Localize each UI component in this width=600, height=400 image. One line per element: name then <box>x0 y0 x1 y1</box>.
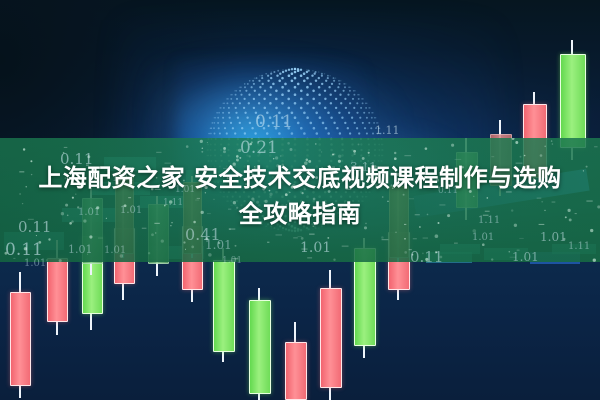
floating-number: 0.21 <box>240 138 278 158</box>
candle-body <box>47 258 68 322</box>
candle-body <box>10 292 31 386</box>
floating-number: 1.01 <box>512 250 539 264</box>
candle-body <box>354 248 376 346</box>
candle-body <box>560 54 586 148</box>
candle-body <box>285 342 307 400</box>
candle-body <box>320 288 342 388</box>
floating-number: 1.01 <box>24 258 46 269</box>
floating-number: 1.01 <box>222 256 242 266</box>
candle-body <box>213 260 235 352</box>
candlestick <box>285 322 305 400</box>
floating-number: 1.11 <box>375 124 400 137</box>
candle-body <box>249 300 271 394</box>
banner-image: 0.111.011.011.010.111.010.111.011.010.41… <box>0 0 600 400</box>
floating-number: 1.01 <box>68 243 93 256</box>
candlestick <box>320 270 340 400</box>
floating-number: 1.01 <box>540 230 567 244</box>
floating-number: 1.01 <box>104 245 126 256</box>
floating-number: 1.11 <box>568 241 590 252</box>
floating-number: 0.11 <box>410 248 443 266</box>
page-title: 上海配资之家 安全技术交底视频课程制作与选购 全攻略指南 <box>0 160 600 232</box>
title-line-1: 上海配资之家 安全技术交底视频课程制作与选购 <box>0 160 600 196</box>
floating-number: 1.01 <box>472 232 494 243</box>
title-line-2: 全攻略指南 <box>0 196 600 232</box>
floating-number: 0.11 <box>255 112 293 132</box>
floating-number: 1.01 <box>300 240 331 256</box>
candlestick <box>249 288 269 400</box>
candlestick <box>10 272 29 398</box>
floating-number: 0.11 <box>5 240 43 260</box>
